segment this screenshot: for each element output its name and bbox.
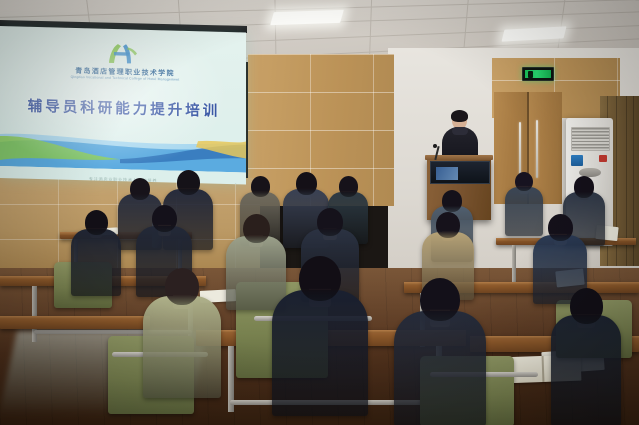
attendee-head [574,176,594,198]
slide-title: 辅导员科研能力提升培训 [10,94,238,121]
speaker-hair [451,110,468,122]
attendee-r3-c2 [272,256,368,416]
attendee-r3-c1 [143,268,221,398]
attendee-head [243,214,270,243]
speaker-scarf [452,127,468,135]
institution-logo-icon [104,41,138,68]
door-handle-right[interactable] [536,120,538,178]
ac-label-red [599,155,607,162]
podium-display-panel [430,161,490,184]
air-conditioner-vent [571,127,610,151]
attendee-head [317,208,343,236]
slide-page-number: 1 [235,182,237,184]
attendee-head [339,176,358,197]
attendee-head [299,256,341,301]
notebook-spine [542,356,545,382]
attendee-head [251,176,270,197]
attendee-head [152,205,177,232]
attendee-torso [272,290,368,416]
microphone-head [433,144,437,148]
attendee-head [420,278,460,321]
attendee-head [442,190,462,212]
running-man-icon [528,71,533,78]
attendee-head [570,288,603,324]
exit-sign [522,67,554,81]
ceiling-panel-light-left [270,10,344,25]
attendee-head [515,172,533,191]
attendee-torso [551,315,621,425]
attendee-torso [143,296,221,398]
desk-row-3-front-left [0,316,150,329]
attendee-head [85,210,108,235]
attendee-head [548,214,573,241]
lecture-room-photo: 青岛酒店管理职业技术学院 Qingdao Vocational and Tech… [0,0,639,425]
attendee-head [130,178,150,200]
slide-wave-graphic [0,130,246,172]
attendee-head [436,212,460,238]
attendee-r2-c1 [71,210,121,296]
attendee-torso [394,311,486,425]
attendee-head [177,170,200,195]
attendee-r3-c3 [394,278,486,425]
attendee-torso [71,229,121,296]
podium-screen-glow [436,167,458,180]
attendee-head [165,268,199,305]
attendee-head [296,172,317,195]
ac-label-blue [571,155,583,166]
attendee-r3-c4 [551,288,621,425]
projector-screen: 青岛酒店管理职业技术学院 Qingdao Vocational and Tech… [0,26,246,184]
